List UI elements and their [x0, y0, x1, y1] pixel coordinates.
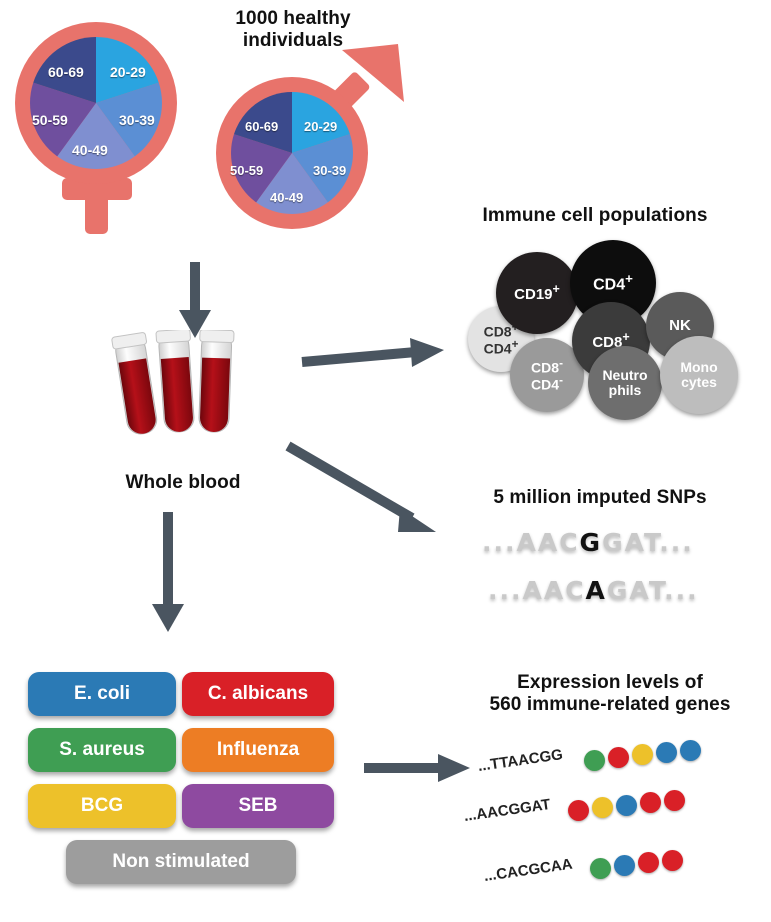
expression-title-line1: Expression levels of — [460, 672, 760, 694]
stimulus-non-stimulated-label: Non stimulated — [112, 851, 249, 873]
arrow-stimuli-to-expression — [362, 748, 472, 788]
whole-blood-label: Whole blood — [88, 472, 278, 494]
rna-strand-1-text: ...TTAACGG — [477, 746, 564, 775]
snp-line2-suffix: GAT... — [607, 576, 699, 605]
male-label-30-39: 30-39 — [313, 163, 346, 178]
rna-bead — [680, 740, 701, 761]
rna-strands: ...TTAACGG ...AACGGAT ...CACGCAA — [462, 740, 762, 900]
snp-line1-suffix: GAT... — [602, 528, 694, 557]
stimulus-c-albicans-label: C. albicans — [208, 683, 308, 705]
rna-strand-3: ...CACGCAA — [462, 836, 762, 892]
male-label-50-59: 50-59 — [230, 163, 263, 178]
arrow-blood-to-immune — [300, 330, 448, 378]
cell-monocytes: Mono cytes — [660, 336, 738, 414]
expression-title-line2: 560 immune-related genes — [460, 694, 760, 716]
rna-bead — [616, 795, 637, 816]
stimulus-s-aureus-label: S. aureus — [59, 739, 145, 761]
male-label-60-69: 60-69 — [245, 119, 278, 134]
rna-bead — [584, 750, 605, 771]
rna-bead — [640, 792, 661, 813]
immune-cell-cluster: CD8+ CD4+ CD19+ CD4+ CD8- CD4- CD8+ NK — [460, 240, 760, 410]
plus-sign: + — [512, 338, 519, 351]
female-age-pie — [6, 18, 196, 248]
female-label-40-49: 40-49 — [72, 142, 108, 158]
expression-title: Expression levels of 560 immune-related … — [460, 672, 760, 717]
snp-sequence-line-1: ...AACGGAT... — [482, 528, 694, 557]
cell-mono-line2: cytes — [681, 374, 717, 390]
female-label-30-39: 30-39 — [119, 112, 155, 128]
rna-bead — [664, 790, 685, 811]
rna-bead — [614, 855, 635, 876]
stimulus-s-aureus[interactable]: S. aureus — [28, 728, 176, 772]
stimulus-influenza[interactable]: Influenza — [182, 728, 334, 772]
female-label-20-29: 20-29 — [110, 64, 146, 80]
male-label-20-29: 20-29 — [304, 119, 337, 134]
female-label-50-59: 50-59 — [32, 112, 68, 128]
figure-canvas: 1000 healthy individuals 20-29 30-39 40- — [0, 0, 771, 922]
snp-line2-variant: A — [586, 576, 607, 605]
rna-bead — [632, 744, 653, 765]
rna-strand-3-text: ...CACGCAA — [483, 856, 574, 885]
rna-bead — [662, 850, 683, 871]
stimulus-c-albicans[interactable]: C. albicans — [182, 672, 334, 716]
plus-sign: + — [622, 330, 629, 344]
rna-bead — [656, 742, 677, 763]
cell-cd4p-label: CD4 — [593, 276, 625, 293]
stimulus-e-coli-label: E. coli — [74, 683, 130, 705]
rna-strand-1: ...TTAACGG — [462, 740, 762, 790]
cell-cd8p-cd4p-line2: CD4 — [484, 341, 512, 357]
stimulus-non-stimulated[interactable]: Non stimulated — [66, 840, 296, 884]
stimulus-e-coli[interactable]: E. coli — [28, 672, 176, 716]
cell-dn-line1: CD8 — [531, 359, 559, 375]
arrow-cohort-to-blood — [175, 262, 215, 340]
plus-sign: + — [625, 271, 633, 286]
cell-neutrophils: Neutro phils — [588, 346, 662, 420]
male-age-pie — [198, 40, 428, 260]
minus-sign: - — [559, 357, 563, 370]
cell-cd8p-cd4p-line1: CD8 — [484, 323, 512, 339]
stimulus-bcg[interactable]: BCG — [28, 784, 176, 828]
snp-sequence-line-2: ...AACAGAT... — [488, 576, 699, 605]
blood-tubes — [108, 330, 258, 450]
stimulus-bcg-label: BCG — [81, 795, 123, 817]
rna-bead — [568, 800, 589, 821]
snp-line1-variant: G — [580, 528, 603, 557]
stimulus-seb-label: SEB — [238, 795, 277, 817]
cell-dn-line2: CD4 — [531, 377, 559, 393]
cell-cd19p: CD19+ — [496, 252, 578, 334]
female-symbol: 20-29 30-39 40-49 50-59 60-69 — [6, 18, 196, 248]
arrow-blood-to-stimuli — [148, 512, 188, 634]
snp-title: 5 million imputed SNPs — [450, 487, 750, 509]
immune-populations-title: Immune cell populations — [430, 205, 760, 227]
snp-sequences: ...AACGGAT... ...AACAGAT... — [482, 528, 732, 620]
rna-bead — [608, 747, 629, 768]
cell-neutro-line2: phils — [609, 382, 642, 398]
snp-line2-prefix: ...AAC — [488, 576, 586, 605]
minus-sign: - — [559, 374, 563, 387]
snp-line1-prefix: ...AAC — [482, 528, 580, 557]
stimulus-influenza-label: Influenza — [217, 739, 299, 761]
cell-nk-label: NK — [669, 317, 691, 334]
rna-bead — [590, 858, 611, 879]
cell-cd19p-label: CD19 — [514, 286, 552, 303]
stimulus-seb[interactable]: SEB — [182, 784, 334, 828]
cohort-title-line1: 1000 healthy — [168, 8, 418, 30]
rna-bead — [592, 797, 613, 818]
male-symbol: 20-29 30-39 40-49 50-59 60-69 — [198, 40, 428, 260]
plus-sign: + — [553, 282, 560, 296]
rna-strand-2: ...AACGGAT — [462, 786, 762, 836]
stimuli-panel: E. coli C. albicans S. aureus Influenza … — [28, 672, 348, 892]
arrow-blood-to-snps — [284, 440, 448, 550]
rna-bead — [638, 852, 659, 873]
female-label-60-69: 60-69 — [48, 64, 84, 80]
rna-strand-2-text: ...AACGGAT — [463, 796, 552, 825]
male-label-40-49: 40-49 — [270, 190, 303, 205]
